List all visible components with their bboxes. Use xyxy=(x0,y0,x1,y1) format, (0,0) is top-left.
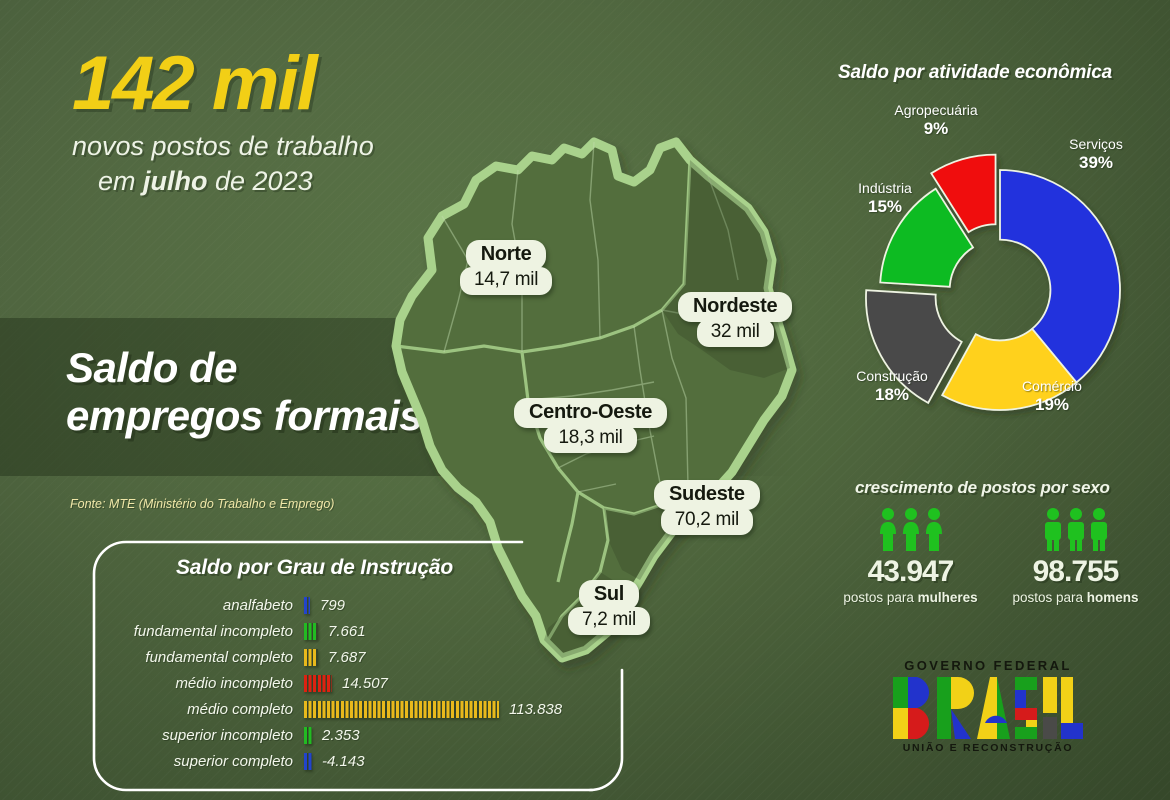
education-row-bar xyxy=(304,623,318,640)
education-row-bar xyxy=(304,753,312,770)
men-caption-pre: postos para xyxy=(1012,590,1086,605)
education-row-value: 113.838 xyxy=(499,701,562,718)
map-label-centro-oeste: Centro-Oeste 18,3 mil xyxy=(514,398,667,453)
woman-icon xyxy=(923,507,945,551)
sex-section: 43.947 postos para mulheres 98.755 posto… xyxy=(828,505,1158,605)
education-row-label: médio completo xyxy=(92,701,304,718)
headline-line2-pre: em xyxy=(98,166,143,196)
map-label-sudeste-name: Sudeste xyxy=(654,480,760,510)
donut-label-industria-value: 15% xyxy=(833,197,937,217)
education-row-label: médio incompleto xyxy=(92,675,304,692)
donut-label-construcao-value: 18% xyxy=(837,385,947,405)
map-label-nordeste: Nordeste 32 mil xyxy=(678,292,792,347)
men-jobs-number: 98.755 xyxy=(993,555,1158,589)
education-row: analfabeto799 xyxy=(92,592,632,618)
education-row-value: -4.143 xyxy=(312,753,365,770)
donut-label-industria: Indústria 15% xyxy=(833,180,937,217)
map-label-norte-name: Norte xyxy=(466,240,547,270)
education-rows: analfabeto799fundamental incompleto7.661… xyxy=(92,592,632,774)
men-group-icon xyxy=(993,505,1158,551)
map-label-sudeste-value: 70,2 mil xyxy=(661,507,753,535)
education-row: médio incompleto14.507 xyxy=(92,670,632,696)
education-row-value: 14.507 xyxy=(332,675,388,692)
man-icon xyxy=(1065,507,1087,551)
donut-chart-title: Saldo por atividade econômica xyxy=(838,62,1138,84)
women-caption-pre: postos para xyxy=(843,590,917,605)
sex-section-title: crescimento de postos por sexo xyxy=(855,478,1155,498)
education-row: fundamental incompleto7.661 xyxy=(92,618,632,644)
map-label-centro-oeste-name: Centro-Oeste xyxy=(514,398,667,428)
map-label-norte-value: 14,7 mil xyxy=(460,267,552,295)
map-label-nordeste-name: Nordeste xyxy=(678,292,792,322)
donut-label-servicos-value: 39% xyxy=(1041,153,1151,173)
education-row-value: 799 xyxy=(310,597,345,614)
governo-federal-logo: GOVERNO FEDERAL xyxy=(888,658,1088,754)
logo-bottom-text: UNIÃO E RECONSTRUÇÃO xyxy=(888,742,1088,754)
men-jobs-caption: postos para homens xyxy=(993,590,1158,605)
education-title: Saldo por Grau de Instrução xyxy=(92,556,537,580)
headline-month: julho xyxy=(143,166,207,196)
brasil-blocks-svg xyxy=(893,677,1083,739)
education-row: médio completo113.838 xyxy=(92,696,632,722)
woman-icon xyxy=(877,507,899,551)
donut-label-comercio-name: Comércio xyxy=(997,378,1107,395)
donut-label-comercio: Comércio 19% xyxy=(997,378,1107,415)
donut-label-construcao: Construção 18% xyxy=(837,368,947,405)
women-caption-bold: mulheres xyxy=(918,590,978,605)
education-row-label: superior completo xyxy=(92,753,304,770)
education-row-label: analfabeto xyxy=(92,597,304,614)
donut-label-construcao-name: Construção xyxy=(837,368,947,385)
map-label-norte: Norte 14,7 mil xyxy=(460,240,552,295)
education-row-bar xyxy=(304,597,310,614)
sex-column-women: 43.947 postos para mulheres xyxy=(828,505,993,605)
donut-chart: Serviços 39% Comércio 19% Construção 18%… xyxy=(845,100,1155,450)
education-row: superior incompleto2.353 xyxy=(92,722,632,748)
man-icon xyxy=(1042,507,1064,551)
education-panel: Saldo por Grau de Instrução analfabeto79… xyxy=(92,540,632,792)
education-row-label: superior incompleto xyxy=(92,727,304,744)
education-row-bar xyxy=(304,701,499,718)
education-row-value: 2.353 xyxy=(312,727,360,744)
donut-label-agropecuaria-name: Agropecuária xyxy=(871,102,1001,119)
education-row-value: 7.661 xyxy=(318,623,366,640)
education-row-bar xyxy=(304,727,312,744)
donut-label-servicos-name: Serviços xyxy=(1041,136,1151,153)
brasil-wordmark-icon xyxy=(888,677,1088,739)
sex-column-men: 98.755 postos para homens xyxy=(993,505,1158,605)
education-row-label: fundamental incompleto xyxy=(92,623,304,640)
donut-label-industria-name: Indústria xyxy=(833,180,937,197)
donut-label-servicos: Serviços 39% xyxy=(1041,136,1151,173)
infographic-canvas: 142 mil novos postos de trabalho em julh… xyxy=(0,0,1170,800)
women-group-icon xyxy=(828,505,993,551)
source-note: Fonte: MTE (Ministério do Trabalho e Emp… xyxy=(70,497,334,511)
logo-top-text: GOVERNO FEDERAL xyxy=(888,658,1088,673)
women-jobs-caption: postos para mulheres xyxy=(828,590,993,605)
education-row-value: 7.687 xyxy=(318,649,366,666)
men-caption-bold: homens xyxy=(1087,590,1139,605)
education-row-bar xyxy=(304,649,318,666)
map-label-sudeste: Sudeste 70,2 mil xyxy=(654,480,760,535)
education-row-label: fundamental completo xyxy=(92,649,304,666)
donut-label-agropecuaria: Agropecuária 9% xyxy=(871,102,1001,139)
education-row: fundamental completo7.687 xyxy=(92,644,632,670)
headline-line2-post: de 2023 xyxy=(208,166,313,196)
man-icon xyxy=(1088,507,1110,551)
donut-label-agropecuaria-value: 9% xyxy=(871,119,1001,139)
women-jobs-number: 43.947 xyxy=(828,555,993,589)
woman-icon xyxy=(900,507,922,551)
headline-number: 142 mil xyxy=(72,48,502,120)
map-label-centro-oeste-value: 18,3 mil xyxy=(544,425,636,453)
education-row: superior completo-4.143 xyxy=(92,748,632,774)
education-row-bar xyxy=(304,675,332,692)
donut-label-comercio-value: 19% xyxy=(997,395,1107,415)
map-label-nordeste-value: 32 mil xyxy=(697,319,774,347)
